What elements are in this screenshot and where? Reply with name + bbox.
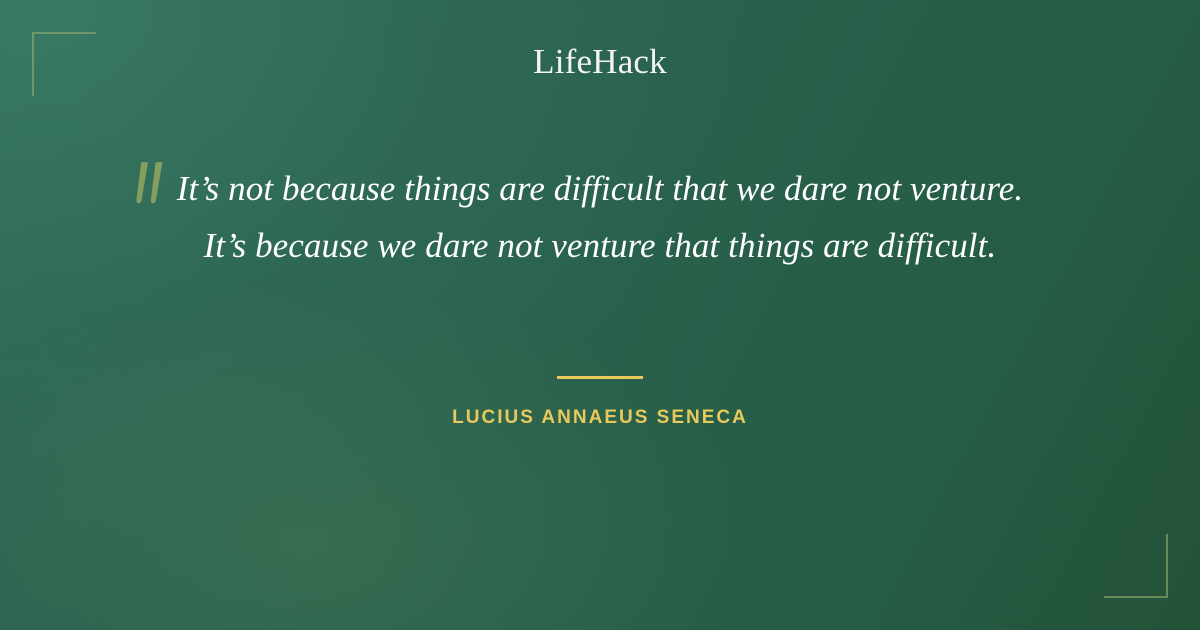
attribution-divider bbox=[557, 376, 643, 379]
author-name: LUCIUS ANNAEUS SENECA bbox=[0, 407, 1200, 429]
quote-block: It’s not because things are difficult th… bbox=[0, 160, 1200, 274]
quote-line: It’s not because things are difficult th… bbox=[96, 160, 1104, 217]
attribution-block: LUCIUS ANNAEUS SENECA bbox=[0, 376, 1200, 429]
quote-text: It’s not because things are difficult th… bbox=[0, 160, 1200, 274]
quotation-mark-icon bbox=[128, 160, 174, 206]
quote-line: It’s because we dare not venture that th… bbox=[96, 217, 1104, 274]
brand-logo: LifeHack bbox=[0, 40, 1200, 84]
corner-bracket-icon-bottom-right bbox=[1104, 534, 1168, 598]
quote-card: LifeHack It’s not because things are dif… bbox=[0, 0, 1200, 630]
